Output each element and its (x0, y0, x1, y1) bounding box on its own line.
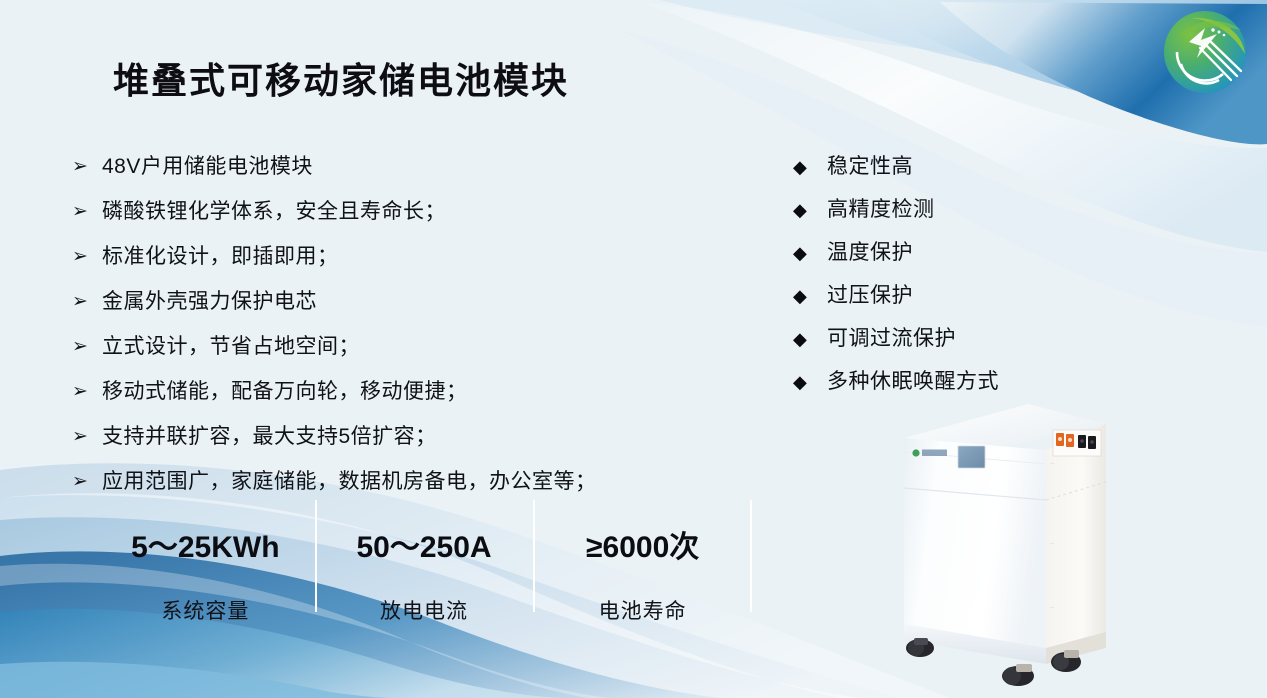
product-brand-logo (912, 449, 947, 456)
list-item-label: 金属外壳强力保护电芯 (102, 285, 317, 315)
list-item: ◆ 高精度检测 (793, 193, 1093, 236)
arrow-bullet-icon: ➢ (72, 337, 102, 356)
list-item: ➢ 48V户用储能电池模块 (72, 150, 712, 195)
diamond-bullet-icon: ◆ (793, 201, 827, 219)
list-item-label: 应用范围广，家庭储能，数据机房备电，办公室等； (102, 465, 597, 495)
list-item: ➢ 应用范围广，家庭储能，数据机房备电，办公室等； (72, 465, 712, 510)
diamond-bullet-icon: ◆ (793, 373, 827, 391)
stats-divider (750, 500, 752, 612)
page-title: 堆叠式可移动家储电池模块 (113, 52, 569, 104)
product-display-screen (958, 446, 985, 468)
stat-battery-life: ≥6000次 电池寿命 (533, 508, 752, 614)
list-item: ➢ 标准化设计，即插即用； (72, 240, 712, 285)
product-terminal-block (1053, 430, 1101, 456)
stat-label: 电池寿命 (599, 595, 687, 625)
arrow-bullet-icon: ➢ (72, 247, 102, 266)
list-item-label: 高精度检测 (827, 193, 935, 223)
stat-discharge-current: 50～250A 放电电流 (315, 508, 534, 614)
list-item-label: 支持并联扩容，最大支持5倍扩容； (102, 420, 437, 450)
list-item-label: 移动式储能，配备万向轮，移动便捷； (102, 375, 468, 405)
diamond-bullet-icon: ◆ (793, 330, 827, 348)
diamond-bullet-icon: ◆ (793, 244, 827, 262)
list-item-label: 温度保护 (827, 236, 913, 266)
arrow-bullet-icon: ➢ (72, 472, 102, 491)
list-item-label: 标准化设计，即插即用； (102, 240, 339, 270)
stat-system-capacity: 5～25KWh 系统容量 (96, 508, 315, 614)
features-left-list: ➢ 48V户用储能电池模块 ➢ 磷酸铁锂化学体系，安全且寿命长； ➢ 标准化设计… (72, 150, 712, 510)
list-item: ➢ 移动式储能，配备万向轮，移动便捷； (72, 375, 712, 420)
stat-value: 50～250A (356, 522, 491, 566)
slide-canvas: 堆叠式可移动家储电池模块 ➢ 48V户用储能电池模块 ➢ 磷酸铁锂化学体系，安全… (0, 0, 1267, 698)
list-item: ◆ 稳定性高 (793, 150, 1093, 193)
stat-value: ≥6000次 (586, 522, 699, 566)
arrow-bullet-icon: ➢ (72, 382, 102, 401)
list-item: ➢ 金属外壳强力保护电芯 (72, 285, 712, 330)
stat-label: 放电电流 (380, 595, 468, 625)
list-item: ➢ 立式设计，节省占地空间； (72, 330, 712, 375)
list-item-label: 立式设计，节省占地空间； (102, 330, 360, 360)
list-item-label: 过压保护 (827, 279, 913, 309)
arrow-bullet-icon: ➢ (72, 427, 102, 446)
arrow-bullet-icon: ➢ (72, 157, 102, 176)
list-item: ◆ 温度保护 (793, 236, 1093, 279)
list-item-label: 48V户用储能电池模块 (102, 150, 313, 180)
stat-value: 5～25KWh (131, 522, 279, 566)
list-item: ➢ 支持并联扩容，最大支持5倍扩容； (72, 420, 712, 465)
list-item-label: 可调过流保护 (827, 322, 956, 352)
stat-label: 系统容量 (161, 595, 249, 625)
list-item: ➢ 磷酸铁锂化学体系，安全且寿命长； (72, 195, 712, 240)
diamond-bullet-icon: ◆ (793, 287, 827, 305)
list-item-label: 稳定性高 (827, 150, 913, 180)
arrow-bullet-icon: ➢ (72, 292, 102, 311)
list-item: ◆ 可调过流保护 (793, 322, 1093, 365)
diamond-bullet-icon: ◆ (793, 158, 827, 176)
features-right-list: ◆ 稳定性高 ◆ 高精度检测 ◆ 温度保护 ◆ 过压保护 ◆ 可调过流保护 ◆ … (793, 150, 1093, 408)
list-item-label: 磷酸铁锂化学体系，安全且寿命长； (102, 195, 446, 225)
spec-stats-row: 5～25KWh 系统容量 50～250A 放电电流 ≥6000次 电池寿命 (96, 508, 752, 614)
arrow-bullet-icon: ➢ (72, 202, 102, 221)
company-logo (1161, 8, 1249, 96)
list-item: ◆ 过压保护 (793, 279, 1093, 322)
product-image-battery-cabinet (878, 392, 1138, 698)
list-item-label: 多种休眠唤醒方式 (827, 365, 999, 395)
